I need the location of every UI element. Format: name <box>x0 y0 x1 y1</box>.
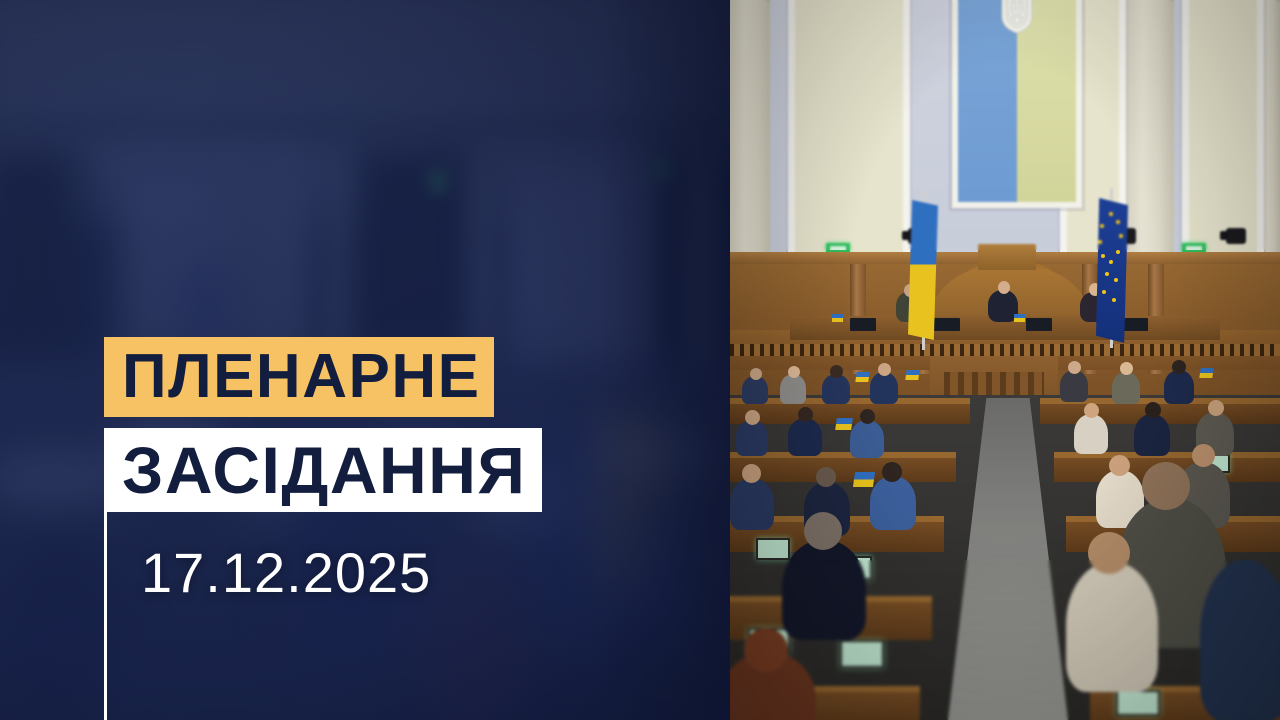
desk-monitor <box>934 318 960 331</box>
desk-flag <box>832 314 843 322</box>
broadcast-date: 17.12.2025 <box>141 545 431 601</box>
deputy <box>782 540 866 640</box>
deputy-head <box>804 512 842 550</box>
deputy-head <box>1084 403 1099 418</box>
title-line2-box: ЗАСІДАННЯ <box>104 428 542 512</box>
deputy-head <box>1172 360 1186 374</box>
deputy-head <box>1208 400 1224 416</box>
deputy <box>780 374 806 404</box>
deputy <box>736 420 768 456</box>
camera-icon <box>1226 228 1246 244</box>
voting-terminal <box>1116 690 1160 716</box>
deputy-head <box>882 462 902 482</box>
title-line2-text: ЗАСІДАННЯ <box>122 437 526 503</box>
deputy <box>730 478 774 530</box>
broadcast-title-card: ПЛЕНАРНЕ ЗАСІДАННЯ 17.12.2025 <box>0 0 1280 720</box>
desk-monitor <box>850 318 876 331</box>
deputy-head <box>878 363 891 376</box>
dais-balustrade <box>730 344 1280 356</box>
deputy-head <box>816 467 836 487</box>
bench-flag <box>905 370 919 380</box>
deputy <box>822 374 850 404</box>
official-head <box>998 281 1010 294</box>
deputy-head <box>860 409 875 424</box>
split-edge-shadow <box>600 0 730 720</box>
deputy <box>1074 414 1108 454</box>
deputy-head <box>1145 402 1161 418</box>
pediment-cap <box>978 244 1036 270</box>
deputy-head <box>788 366 800 378</box>
deputy-head <box>742 464 761 483</box>
bench-flag <box>855 372 869 382</box>
deputy <box>788 418 822 456</box>
deputy <box>870 372 898 404</box>
deputy <box>1134 414 1170 456</box>
title-line1-text: ПЛЕНАРНЕ <box>122 346 480 408</box>
deputy-head <box>1192 444 1215 467</box>
deputy-head <box>745 410 760 425</box>
desk-monitor <box>1026 318 1052 331</box>
deputy-head <box>798 407 813 422</box>
deputy-head <box>830 365 843 378</box>
deputy <box>742 376 768 404</box>
deputy <box>1066 562 1158 692</box>
deputy <box>870 476 916 530</box>
bench-flag <box>1199 368 1213 378</box>
voting-terminal <box>756 538 790 560</box>
deputy-head <box>1120 362 1133 375</box>
ukraine-flag <box>908 200 938 340</box>
deputy-head <box>1088 532 1130 574</box>
title-line1-box: ПЛЕНАРНЕ <box>104 337 494 417</box>
bench-flag <box>835 418 853 430</box>
desk-monitor <box>1122 318 1148 331</box>
bench-flag <box>853 472 875 487</box>
deputy <box>850 420 884 458</box>
voting-terminal <box>840 640 884 668</box>
coat-of-arms-trident-icon <box>1000 0 1034 34</box>
deputy <box>1164 370 1194 404</box>
deputy-head <box>750 368 762 380</box>
deputy-head <box>1109 455 1130 476</box>
desk-flag <box>1014 314 1025 322</box>
eu-flag <box>1096 198 1128 343</box>
deputy-bench <box>730 452 956 482</box>
deputy <box>1112 372 1140 404</box>
deputy <box>1200 560 1280 720</box>
plenary-chamber-photo <box>730 0 1280 720</box>
deputy <box>1060 370 1088 402</box>
deputy-head <box>1068 361 1081 374</box>
ukraine-flag-panel <box>952 0 1082 208</box>
deputy-head <box>1142 462 1190 510</box>
deputy-head <box>744 628 788 672</box>
